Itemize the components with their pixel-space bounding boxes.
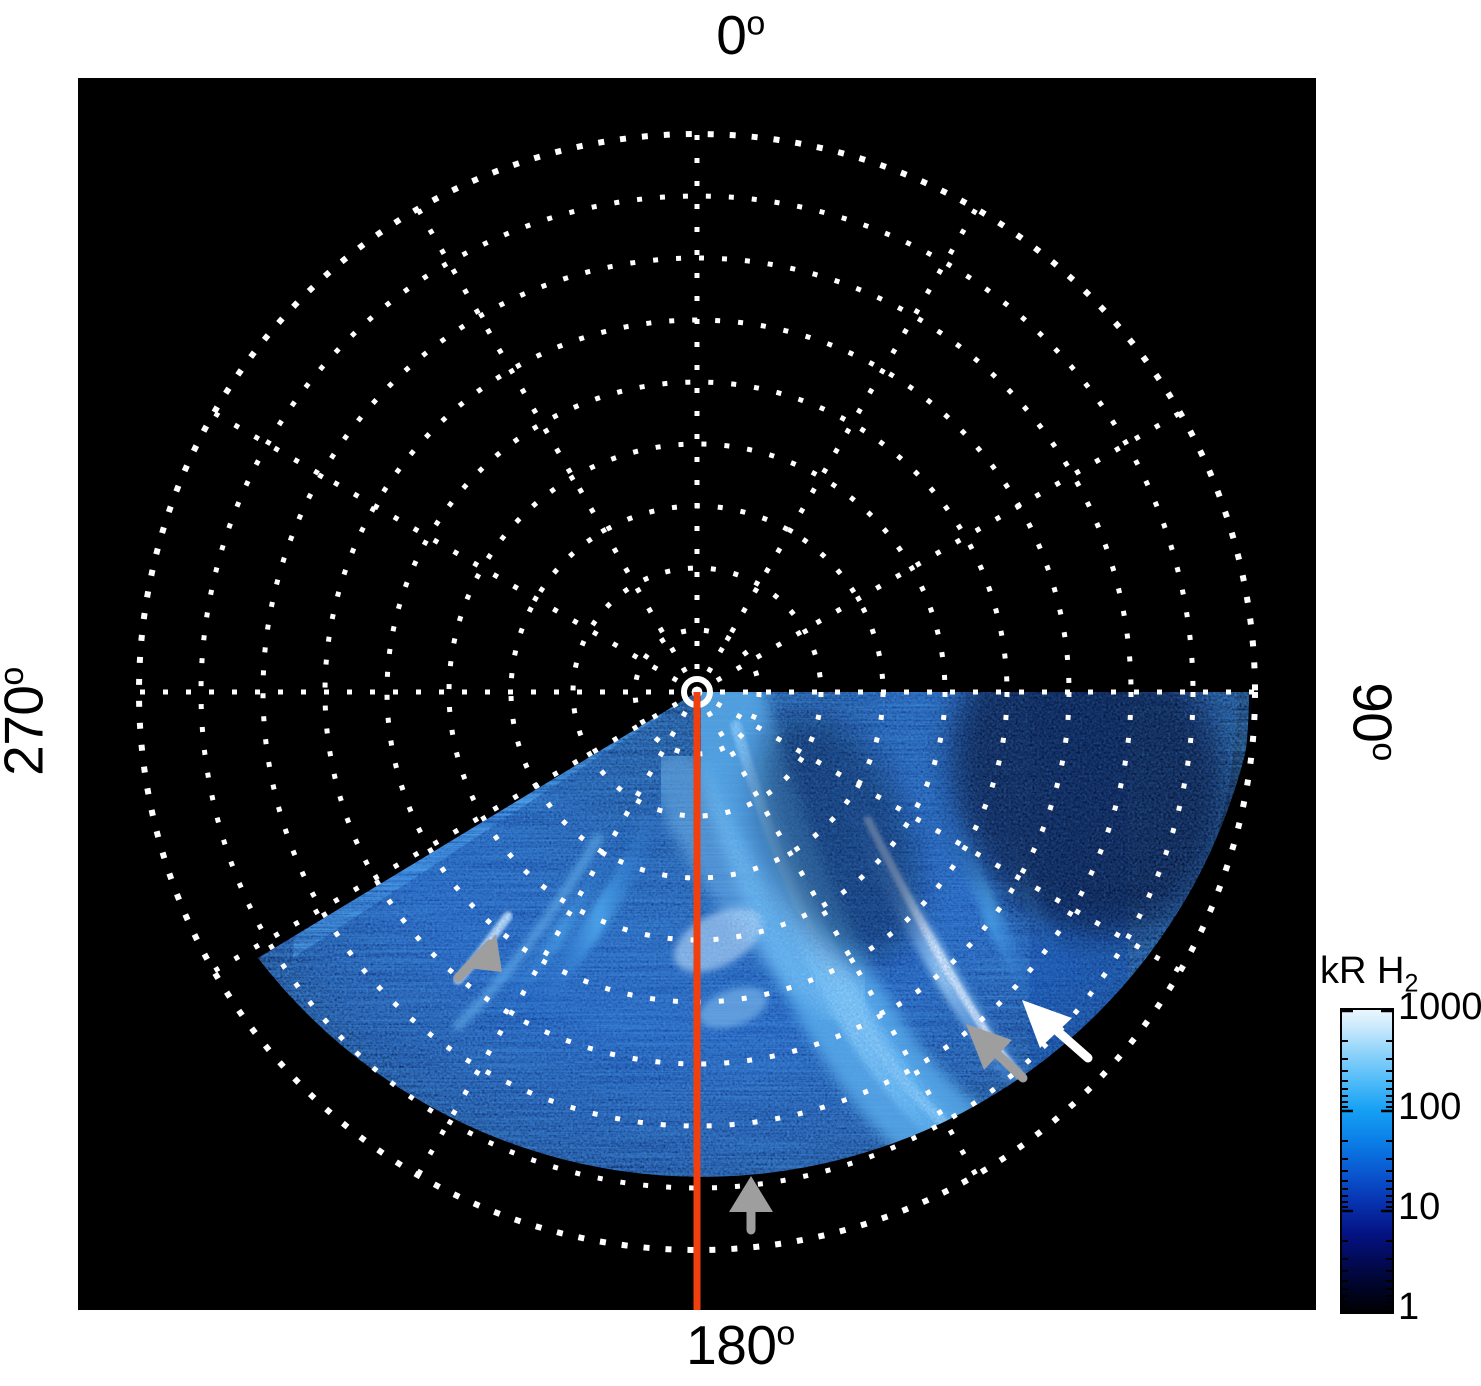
degree-symbol-top: o bbox=[746, 5, 764, 43]
figure-root: 0o 180o 270o 90o kR H2 bbox=[0, 0, 1481, 1386]
polar-plot-panel bbox=[78, 78, 1316, 1310]
axis-label-0-value: 0 bbox=[716, 4, 746, 66]
degree-symbol-left: o bbox=[0, 667, 31, 685]
annotation-layer bbox=[78, 78, 1316, 1310]
axis-label-270-deg: 270o bbox=[0, 642, 52, 802]
colorbar-title-main: kR H bbox=[1320, 950, 1404, 992]
axis-label-180-deg: 180o bbox=[0, 1318, 1481, 1373]
axis-label-270-value: 270 bbox=[0, 686, 55, 776]
degree-symbol-right: o bbox=[1365, 742, 1403, 760]
axis-label-180-value: 180 bbox=[686, 1314, 776, 1376]
arrow-gray-dusk-patch bbox=[966, 1024, 1023, 1078]
arrow-gray-west-arc bbox=[458, 934, 502, 978]
colorbar-tick-label-1: 1 bbox=[1398, 1288, 1419, 1326]
axis-label-0-deg: 0o bbox=[0, 8, 1481, 63]
colorbar-tick-label-100: 100 bbox=[1398, 1088, 1461, 1126]
colorbar-tick-label-1000: 1000 bbox=[1398, 988, 1481, 1026]
degree-symbol-bottom: o bbox=[776, 1315, 794, 1353]
arrow-white-dusk-spot bbox=[1022, 1000, 1088, 1058]
axis-label-90-deg: 90o bbox=[1345, 642, 1400, 802]
colorbar-tick-marks bbox=[1340, 1008, 1394, 1314]
arrow-gray-equatorward bbox=[729, 1176, 773, 1230]
colorbar-tick-label-10: 10 bbox=[1398, 1188, 1440, 1226]
axis-label-90-value: 90 bbox=[1342, 682, 1404, 742]
